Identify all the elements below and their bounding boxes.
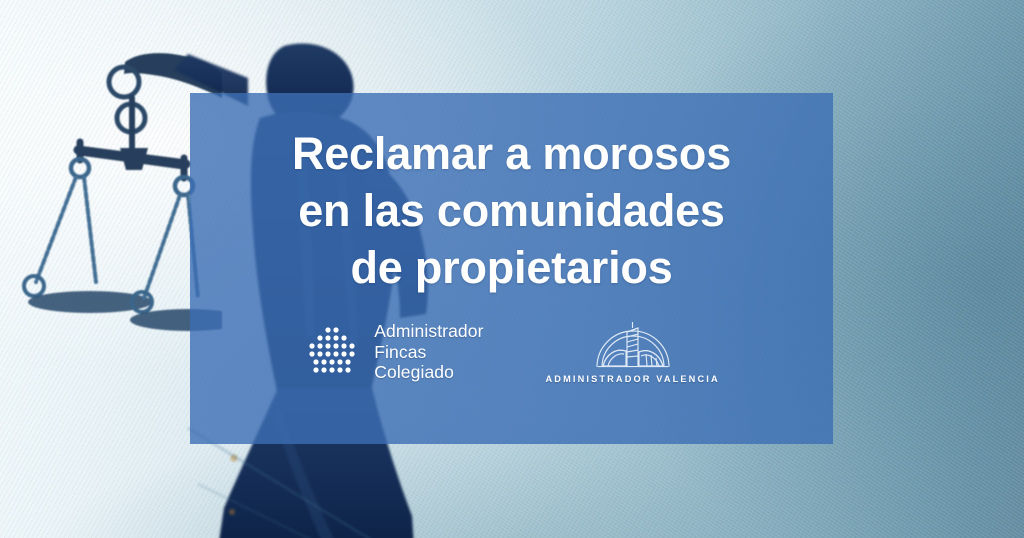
dot-matrix-icon (303, 323, 361, 381)
tower-arch-icon (586, 320, 680, 372)
page-title: Reclamar a morosos en las comunidades de… (190, 125, 833, 296)
headline-line-2: en las comunidades (190, 182, 833, 239)
logo-afc-line-1: Administrador (374, 321, 483, 342)
logo-administrador-valencia: ADMINISTRADOR VALENCIA (546, 320, 720, 384)
logo-afc-wordmark: Administrador Fincas Colegiado (374, 321, 483, 383)
headline-line-3: de propietarios (190, 239, 833, 296)
promotional-banner: Reclamar a morosos en las comunidades de… (0, 0, 1024, 538)
logo-afc-line-2: Fincas (374, 342, 483, 363)
logo-av-caption: ADMINISTRADOR VALENCIA (546, 374, 720, 384)
headline-line-1: Reclamar a morosos (190, 125, 833, 182)
logo-strip: Administrador Fincas Colegiado (303, 320, 720, 384)
logo-afc-line-3: Colegiado (374, 362, 483, 383)
content-panel: Reclamar a morosos en las comunidades de… (190, 93, 833, 444)
logo-administrador-fincas-colegiado: Administrador Fincas Colegiado (303, 321, 483, 383)
